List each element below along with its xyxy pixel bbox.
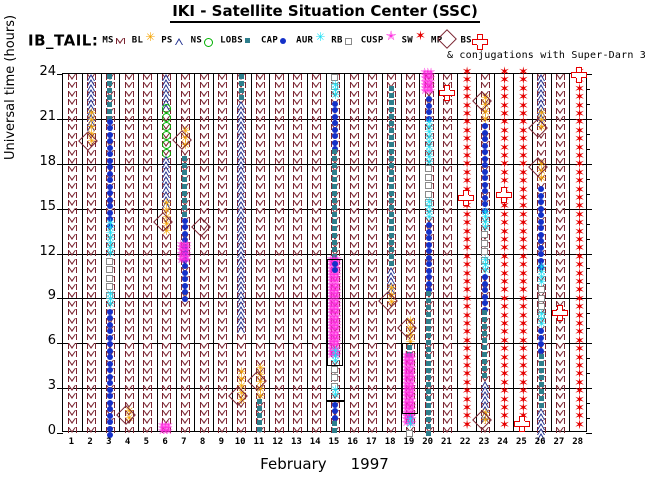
marker-ns (162, 140, 171, 149)
marker-ms (162, 250, 171, 256)
marker-ms (443, 284, 452, 290)
marker-ms (443, 376, 452, 382)
marker-ms (218, 360, 227, 366)
marker-lobs (426, 354, 431, 359)
marker-ms (256, 217, 265, 223)
marker-ms (406, 301, 415, 307)
day-column[interactable] (569, 74, 588, 431)
day-column[interactable] (82, 74, 101, 431)
marker-ms (256, 150, 265, 156)
day-column[interactable] (401, 74, 420, 431)
marker-lobs (389, 163, 394, 168)
marker-ms (350, 74, 359, 80)
marker-ms (312, 250, 321, 256)
marker-ms (200, 82, 209, 88)
marker-ms (312, 410, 321, 416)
marker-ms (218, 158, 227, 164)
marker-ms (87, 318, 96, 324)
marker-ms (256, 343, 265, 349)
marker-cap (107, 400, 113, 406)
marker-ms (275, 141, 284, 147)
day-column[interactable] (438, 74, 457, 431)
marker-lobs (426, 298, 431, 303)
marker-ms (350, 368, 359, 374)
marker-ms (162, 410, 171, 416)
marker-ms (293, 351, 302, 357)
marker-rb (331, 374, 338, 381)
marker-ms (143, 166, 152, 172)
marker-ms (256, 158, 265, 164)
marker-ms (293, 427, 302, 433)
marker-ms (406, 133, 415, 139)
marker-ms (275, 376, 284, 382)
marker-ms (256, 141, 265, 147)
marker-ms (350, 343, 359, 349)
marker-ms (312, 284, 321, 290)
marker-ms (256, 326, 265, 332)
marker-ms (68, 418, 77, 424)
marker-cap (482, 169, 488, 175)
day-column[interactable] (119, 74, 138, 431)
marker-ms (368, 133, 377, 139)
marker-lobs (426, 333, 431, 338)
marker-ms (312, 351, 321, 357)
marker-rb (538, 286, 545, 293)
marker-ms (125, 242, 134, 248)
marker-cap (182, 276, 188, 282)
marker-ms (406, 234, 415, 240)
marker-ms (556, 166, 565, 172)
marker-lobs (389, 205, 394, 210)
marker-ms (312, 124, 321, 130)
x-axis-year: 1997 (351, 455, 389, 473)
marker-ms (162, 393, 171, 399)
marker-ms (200, 376, 209, 382)
day-column[interactable] (457, 74, 476, 431)
marker-ms (556, 217, 565, 223)
marker-ms (293, 343, 302, 349)
marker-ms (293, 99, 302, 105)
marker-ms (275, 99, 284, 105)
legend-item-bs: BS (460, 34, 485, 47)
marker-ms (443, 116, 452, 122)
marker-cap (107, 125, 113, 131)
marker-ms (125, 200, 134, 206)
marker-ms (350, 217, 359, 223)
marker-ms (125, 74, 134, 80)
marker-sw (499, 427, 508, 436)
marker-ms (200, 402, 209, 408)
day-column[interactable] (269, 74, 288, 431)
day-column[interactable] (551, 74, 570, 431)
marker-ms (87, 301, 96, 307)
marker-ms (181, 108, 190, 114)
marker-lobs (539, 368, 544, 373)
marker-ms (443, 318, 452, 324)
marker-ms (350, 242, 359, 248)
marker-ms (275, 183, 284, 189)
day-column[interactable] (288, 74, 307, 431)
marker-ms (125, 292, 134, 298)
marker-ms (350, 385, 359, 391)
marker-ms (312, 309, 321, 315)
marker-cap (107, 184, 113, 190)
marker-ms (218, 301, 227, 307)
marker-lobs (426, 410, 431, 415)
marker-ms (350, 175, 359, 181)
marker-mp (250, 374, 270, 394)
marker-ms (368, 301, 377, 307)
marker-ms (368, 82, 377, 88)
legend-item-label: SW (402, 36, 413, 46)
marker-ms (293, 158, 302, 164)
marker-mp (381, 294, 401, 314)
red-cross-outline-icon (473, 34, 486, 47)
marker-ms (443, 183, 452, 189)
marker-ms (293, 74, 302, 80)
day-column[interactable] (251, 74, 270, 431)
marker-lobs (389, 86, 394, 91)
marker-lobs (332, 177, 337, 182)
marker-ms (181, 351, 190, 357)
y-tick-label: 3 (26, 379, 56, 392)
marker-ms (181, 309, 190, 315)
legend-item-mp: MP (431, 34, 456, 47)
marker-ms (312, 393, 321, 399)
marker-ms (443, 292, 452, 298)
day-column[interactable] (363, 74, 382, 431)
marker-ms (125, 385, 134, 391)
day-column[interactable] (307, 74, 326, 431)
marker-ms (312, 318, 321, 324)
marker-bs (514, 416, 530, 432)
marker-ms (556, 368, 565, 374)
marker-ms (200, 91, 209, 97)
marker-ms (350, 158, 359, 164)
marker-ms (312, 217, 321, 223)
marker-ms (125, 150, 134, 156)
marker-ms (406, 276, 415, 282)
legend-item-ps: PS (161, 34, 186, 47)
marker-lobs (182, 205, 187, 210)
marker-ms (68, 150, 77, 156)
marker-ms (87, 166, 96, 172)
marker-ms (256, 234, 265, 240)
marker-ms (143, 376, 152, 382)
marker-ms (556, 376, 565, 382)
marker-ms (143, 276, 152, 282)
marker-ms (312, 99, 321, 105)
marker-ms (237, 410, 246, 416)
marker-ms (368, 108, 377, 114)
annotation-box (327, 259, 343, 365)
marker-ms (200, 74, 209, 80)
day-column[interactable] (213, 74, 232, 431)
marker-ms (275, 91, 284, 97)
marker-mp (475, 413, 495, 433)
marker-ms (350, 166, 359, 172)
day-column[interactable] (232, 74, 251, 431)
day-column[interactable] (532, 74, 551, 431)
marker-ms (87, 376, 96, 382)
marker-ms (368, 360, 377, 366)
marker-ms (143, 259, 152, 265)
marker-ms (143, 343, 152, 349)
marker-lobs (389, 198, 394, 203)
marker-ms (125, 99, 134, 105)
marker-ms (275, 82, 284, 88)
marker-cap (426, 235, 432, 241)
marker-ms (312, 334, 321, 340)
marker-ms (125, 175, 134, 181)
marker-ms (556, 284, 565, 290)
marker-cap (538, 206, 544, 212)
marker-ms (368, 175, 377, 181)
chart-page: IKI - Satellite Situation Center (SSC) I… (0, 0, 650, 500)
marker-ms (181, 301, 190, 307)
marker-ms (143, 158, 152, 164)
marker-ms (87, 217, 96, 223)
marker-ms (68, 284, 77, 290)
marker-cap (107, 419, 113, 425)
marker-ms (256, 108, 265, 114)
marker-ms (68, 410, 77, 416)
marker-ms (162, 284, 171, 290)
marker-cap (332, 408, 338, 414)
marker-ms (293, 259, 302, 265)
marker-lobs (239, 88, 244, 93)
marker-ms (293, 192, 302, 198)
marker-ms (368, 385, 377, 391)
marker-ms (556, 133, 565, 139)
marker-ms (68, 217, 77, 223)
marker-ms (68, 376, 77, 382)
marker-ms (387, 74, 396, 80)
legend-item-label: RB (331, 36, 342, 46)
marker-ms (556, 242, 565, 248)
marker-ms (368, 116, 377, 122)
marker-ms (125, 376, 134, 382)
marker-lobs (389, 219, 394, 224)
marker-cap (107, 132, 113, 138)
marker-ms (68, 326, 77, 332)
marker-lobs (426, 417, 431, 422)
marker-lobs (182, 184, 187, 189)
marker-ms (181, 99, 190, 105)
marker-lobs (332, 233, 337, 238)
legend-item-bl: BL (132, 34, 157, 47)
marker-ms (143, 192, 152, 198)
marker-ms (200, 175, 209, 181)
marker-ms (312, 242, 321, 248)
marker-ms (181, 74, 190, 80)
marker-ms (312, 267, 321, 273)
marker-ms (275, 108, 284, 114)
marker-ms (68, 242, 77, 248)
marker-ms (443, 124, 452, 130)
marker-ms (162, 326, 171, 332)
marker-ms (368, 225, 377, 231)
day-column[interactable] (476, 74, 495, 431)
marker-ms (275, 351, 284, 357)
legend-item-aur: AUR (296, 34, 327, 47)
maroon-diamond-outline-icon (443, 34, 456, 47)
marker-ms (556, 402, 565, 408)
marker-ms (87, 267, 96, 273)
day-column[interactable] (326, 74, 345, 431)
marker-ms (368, 267, 377, 273)
day-column[interactable] (344, 74, 363, 431)
marker-ms (162, 385, 171, 391)
marker-ms (293, 309, 302, 315)
marker-ms (68, 116, 77, 122)
marker-ms (443, 326, 452, 332)
marker-lobs (332, 198, 337, 203)
marker-ms (200, 124, 209, 130)
marker-ms (200, 133, 209, 139)
legend-subnote: & conjugations with Super-Darn 3 (447, 50, 646, 61)
marker-ms (350, 250, 359, 256)
marker-ms (312, 158, 321, 164)
day-column[interactable] (494, 74, 513, 431)
marker-mp (194, 220, 214, 240)
marker-ms (556, 150, 565, 156)
day-column[interactable] (101, 74, 120, 431)
marker-ms (556, 250, 565, 256)
marker-ms (87, 208, 96, 214)
day-column[interactable] (419, 74, 438, 431)
marker-ms (350, 267, 359, 273)
marker-ms (443, 393, 452, 399)
marker-ms (143, 318, 152, 324)
marker-lobs (426, 312, 431, 317)
marker-cap (332, 402, 338, 408)
marker-ms (68, 74, 77, 80)
marker-ms (68, 192, 77, 198)
marker-ms (256, 124, 265, 130)
marker-ms (350, 360, 359, 366)
marker-cap (426, 103, 432, 109)
marker-ms (312, 108, 321, 114)
marker-ms (556, 326, 565, 332)
marker-ms (275, 402, 284, 408)
marker-ms (68, 208, 77, 214)
marker-ms (368, 242, 377, 248)
marker-ms (368, 334, 377, 340)
marker-ms (125, 360, 134, 366)
day-column[interactable] (63, 74, 82, 431)
marker-ms (218, 351, 227, 357)
marker-ns (162, 122, 171, 131)
marker-ms (125, 334, 134, 340)
down-triangle-outline-icon (115, 34, 128, 47)
marker-ms (312, 74, 321, 80)
marker-ms (143, 301, 152, 307)
legend-item-label: NS (191, 36, 202, 46)
marker-mp (119, 408, 139, 428)
day-column[interactable] (382, 74, 401, 431)
marker-ms (556, 116, 565, 122)
marker-lobs (389, 121, 394, 126)
marker-ms (312, 376, 321, 382)
marker-cap (107, 335, 113, 341)
marker-ms (125, 192, 134, 198)
marker-ms (312, 418, 321, 424)
day-column[interactable] (176, 74, 195, 431)
marker-ms (350, 309, 359, 315)
marker-rb (425, 165, 432, 172)
marker-sw (574, 427, 583, 436)
marker-ms (275, 74, 284, 80)
day-column[interactable] (138, 74, 157, 431)
marker-ms (406, 217, 415, 223)
marker-ms (218, 225, 227, 231)
marker-mp (175, 133, 195, 153)
marker-ms (181, 334, 190, 340)
day-column[interactable] (157, 74, 176, 431)
marker-ms (350, 183, 359, 189)
marker-ms (125, 309, 134, 315)
marker-cap (107, 387, 113, 393)
marker-ms (312, 402, 321, 408)
marker-ms (556, 183, 565, 189)
marker-ms (125, 250, 134, 256)
marker-ms (368, 376, 377, 382)
marker-ms (275, 124, 284, 130)
marker-ms (368, 326, 377, 332)
marker-lobs (389, 135, 394, 140)
marker-ms (293, 82, 302, 88)
marker-mp (531, 121, 551, 141)
marker-ms (350, 259, 359, 265)
marker-cap (182, 224, 188, 230)
marker-ms (293, 376, 302, 382)
marker-ms (256, 292, 265, 298)
marker-ms (556, 192, 565, 198)
marker-lobs (389, 247, 394, 252)
day-column[interactable] (194, 74, 213, 431)
marker-ms (350, 402, 359, 408)
marker-ms (443, 150, 452, 156)
marker-ms (143, 309, 152, 315)
marker-ms (368, 141, 377, 147)
marker-ms (162, 267, 171, 273)
marker-lobs (389, 212, 394, 217)
marker-ms (143, 183, 152, 189)
legend-item-label: LOBS (220, 36, 243, 46)
marker-ms (556, 91, 565, 97)
marker-ms (293, 360, 302, 366)
marker-ms (200, 368, 209, 374)
marker-cap (182, 283, 188, 289)
marker-ms (68, 309, 77, 315)
marker-ms (443, 402, 452, 408)
legend: IB_TAIL:MSBLPSNSLOBSCAPAURRBCUSPSWMPBS (28, 30, 648, 50)
marker-rb (538, 295, 545, 302)
marker-ms (556, 208, 565, 214)
marker-ms (443, 175, 452, 181)
marker-ms (200, 116, 209, 122)
marker-ms (68, 133, 77, 139)
marker-lobs (107, 102, 112, 107)
marker-lobs (389, 142, 394, 147)
marker-lobs (182, 191, 187, 196)
marker-ms (293, 267, 302, 273)
marker-ms (293, 318, 302, 324)
marker-ms (387, 343, 396, 349)
marker-ms (556, 334, 565, 340)
marker-ms (87, 385, 96, 391)
